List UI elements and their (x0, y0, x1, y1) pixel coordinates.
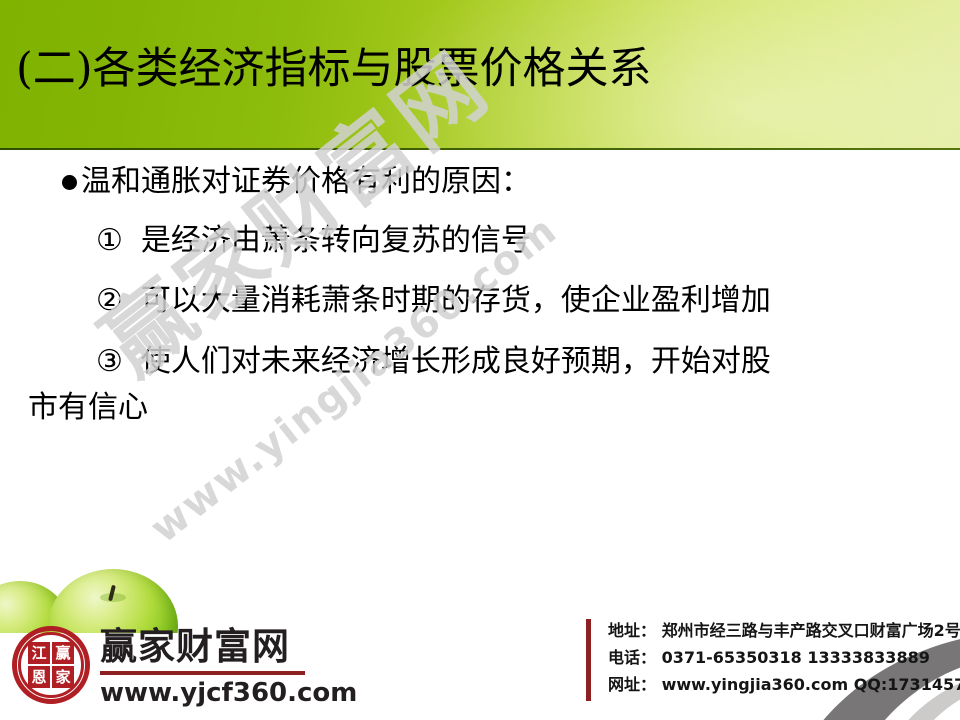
list-item-text-1: 是经济由萧条转向复苏的信号 (141, 223, 531, 258)
contact-accent-bar (586, 619, 591, 701)
brand-website-url: www.yjcf360.com (100, 677, 357, 709)
list-item-text-3: 使人们对未来经济增长形成良好预期，开始对股 (141, 344, 771, 379)
contact-website: 网址： www.yingjia360.com QQ:1731457646 (608, 671, 960, 698)
presentation-slide: (二)各类经济指标与股票价格关系 温和通胀对证券价格有利的原因： ①是经济由萧条… (0, 0, 960, 720)
brand-name: 赢家财富网 (100, 625, 357, 669)
seal-char-4: 家 (52, 666, 74, 688)
list-item: ③使人们对未来经济增长形成良好预期，开始对股 (96, 344, 771, 380)
seal-char-2: 赢 (52, 642, 74, 664)
slide-body: 温和通胀对证券价格有利的原因： ①是经济由萧条转向复苏的信号 ②可以大量消耗萧条… (0, 150, 960, 570)
seal-char-3: 恩 (28, 666, 50, 688)
list-marker-2: ② (96, 283, 123, 318)
list-item: ①是经济由萧条转向复苏的信号 (96, 223, 531, 259)
contact-lines: 地址： 郑州市经三路与丰产路交叉口财富广场2号楼4楼C户 电话： 0371-65… (608, 617, 960, 698)
list-item: ②可以大量消耗萧条时期的存货，使企业盈利增加 (96, 283, 771, 319)
contact-address: 地址： 郑州市经三路与丰产路交叉口财富广场2号楼4楼C户 (608, 617, 960, 644)
seal-character-grid: 江 赢 恩 家 (28, 642, 74, 688)
company-seal-logo: 江 赢 恩 家 (12, 626, 90, 704)
list-item-text-2: 可以大量消耗萧条时期的存货，使企业盈利增加 (141, 283, 771, 318)
list-item-wrap-text: 市有信心 (28, 390, 148, 426)
body-heading-text: 温和通胀对证券价格有利的原因： (81, 164, 531, 199)
brand-block: 赢家财富网 www.yjcf360.com (100, 625, 357, 709)
slide-footer: 江 赢 恩 家 赢家财富网 www.yjcf360.com 地址： 郑州市经三路… (0, 555, 960, 720)
bullet-icon (62, 175, 77, 190)
apples-photo (0, 555, 185, 633)
body-heading-line: 温和通胀对证券价格有利的原因： (62, 164, 531, 200)
apple-right-shape (48, 569, 178, 633)
list-marker-3: ③ (96, 344, 123, 379)
brand-divider (100, 671, 305, 675)
contact-phone: 电话： 0371-65350318 13333833889 (608, 644, 960, 671)
list-marker-1: ① (96, 223, 123, 258)
seal-char-1: 江 (28, 642, 50, 664)
page-title: (二)各类经济指标与股票价格关系 (16, 41, 652, 97)
